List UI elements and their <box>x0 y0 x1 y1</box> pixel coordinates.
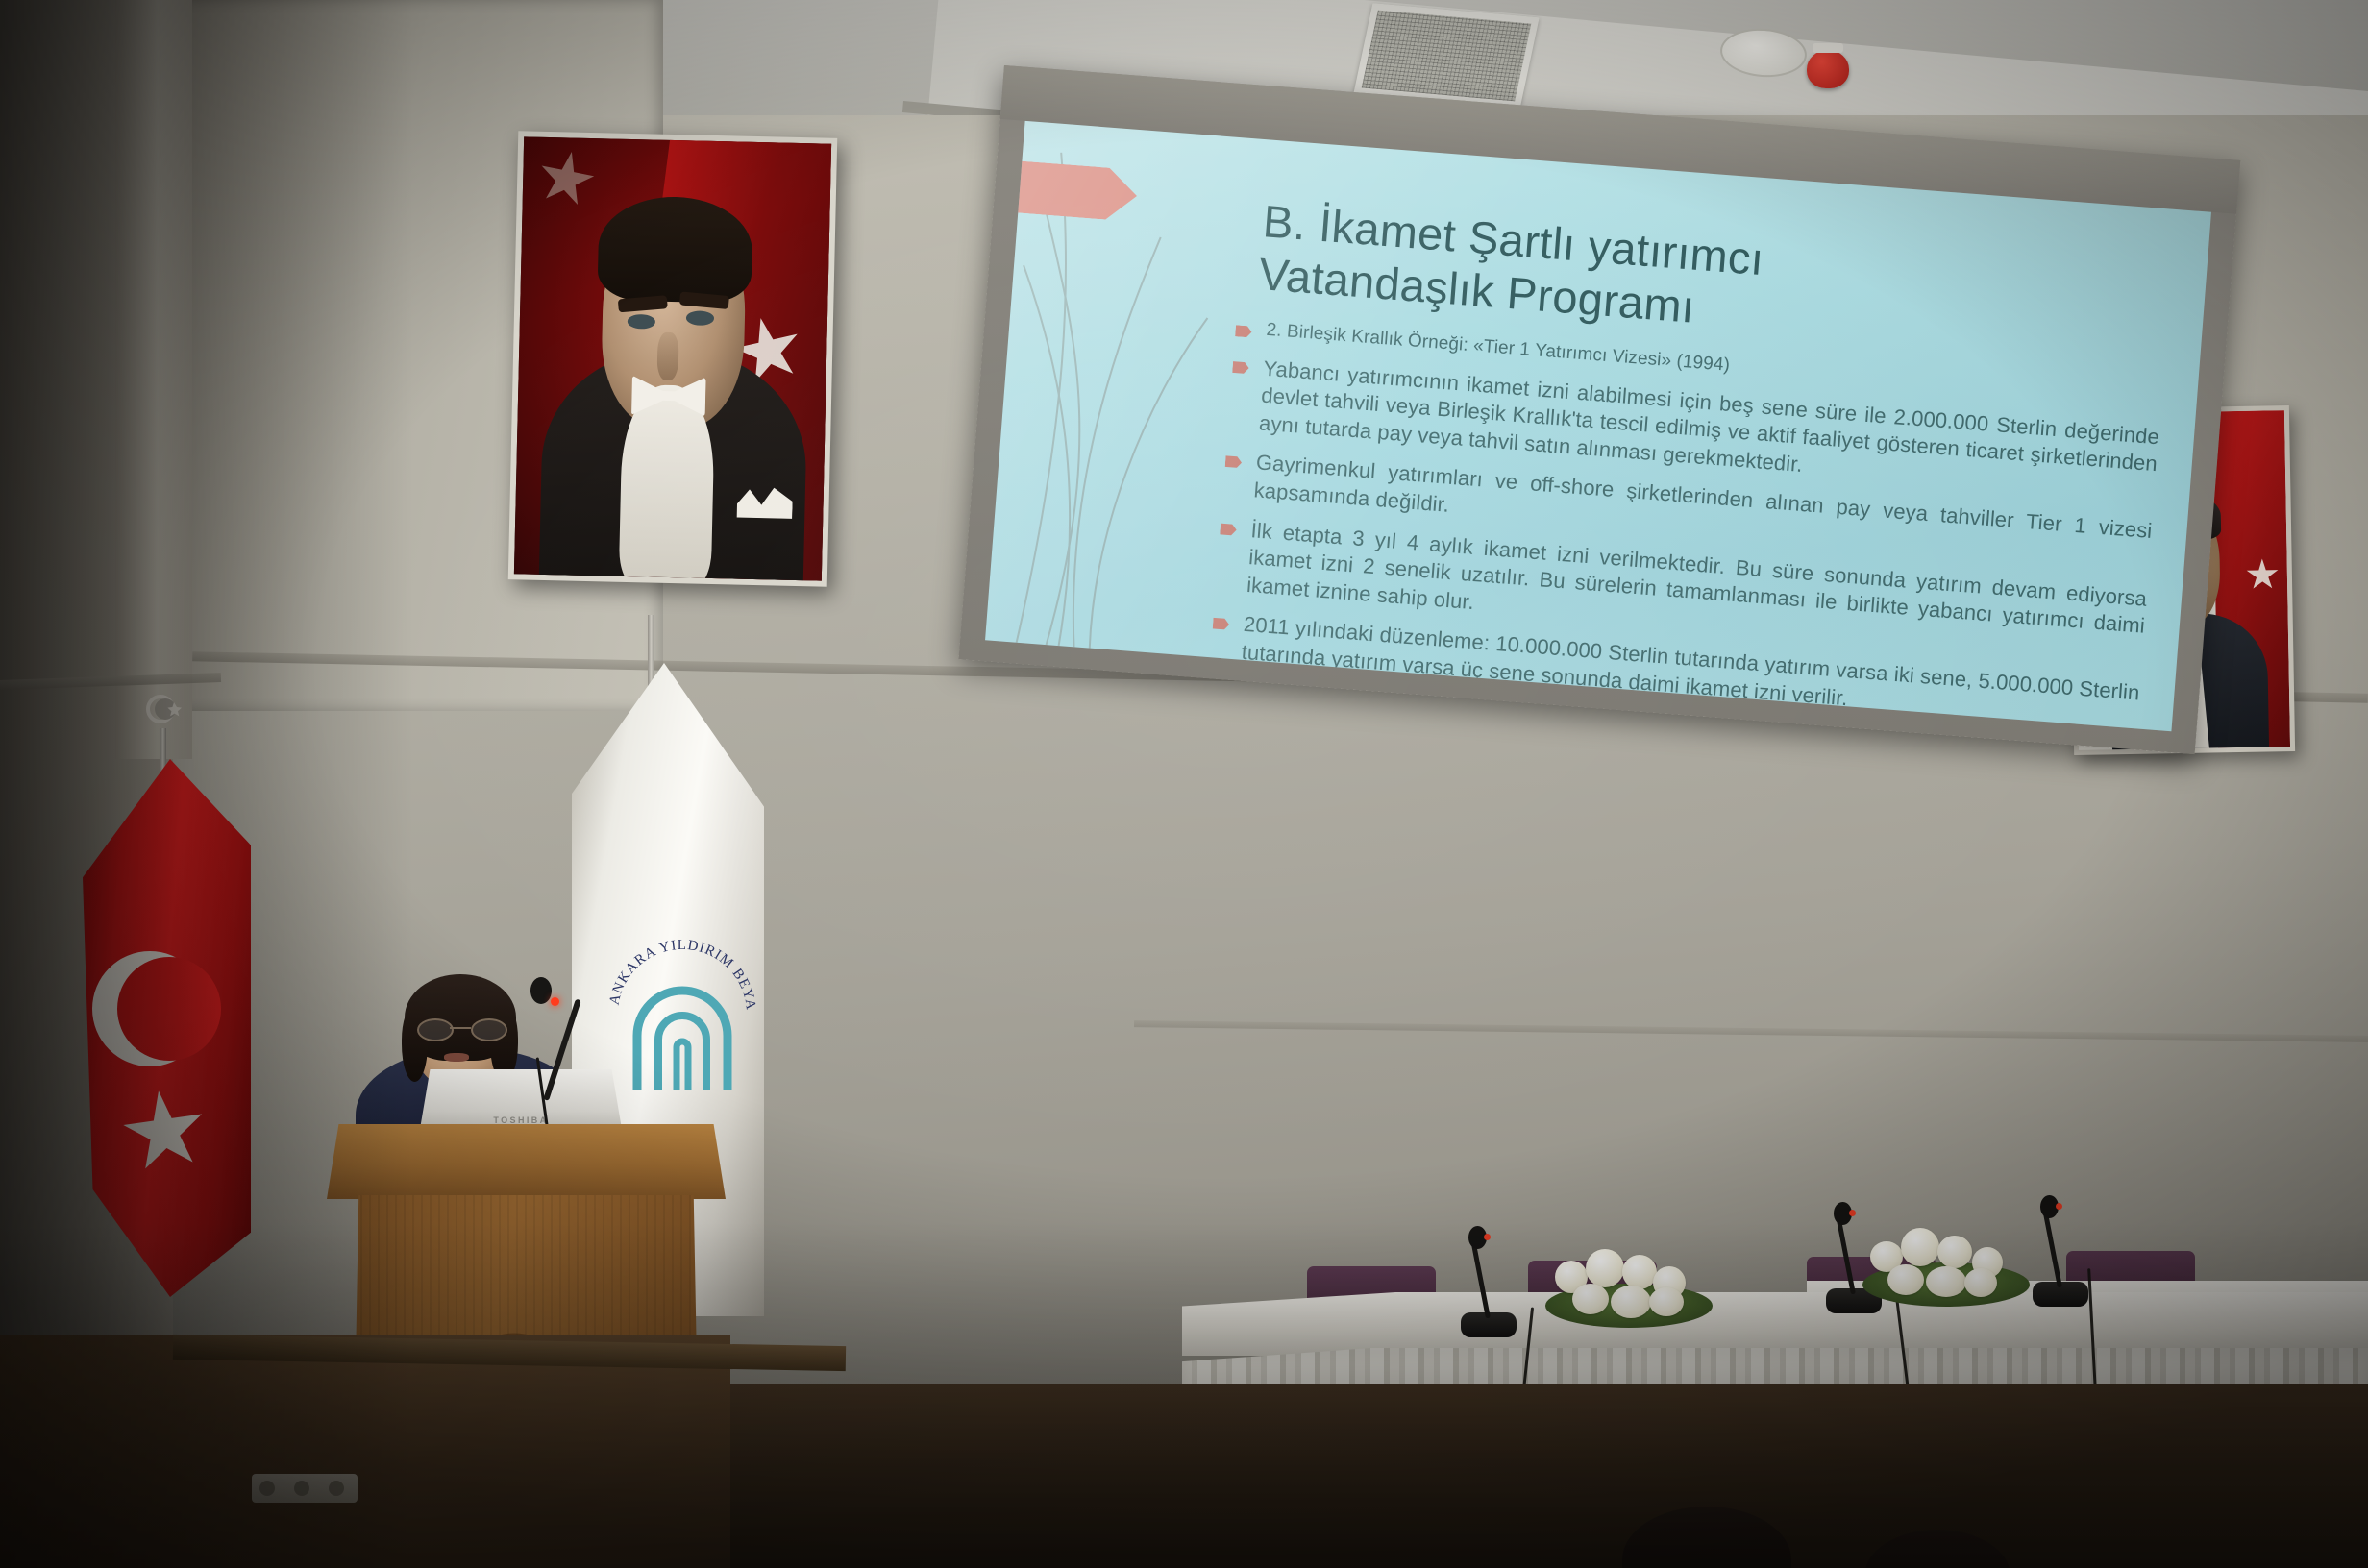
presentation-slide: B. İkamet Şartlı yatırımcı Vatandaşlık P… <box>985 121 2211 731</box>
smoke-detector-icon <box>1807 50 1849 88</box>
podium-microphone-icon <box>530 977 552 1004</box>
wall-outlet-icon <box>252 1474 358 1503</box>
flower-bouquet <box>1855 1220 2037 1305</box>
crescent-star-finial-icon <box>140 688 185 732</box>
conference-hall-photo: B. İkamet Şartlı yatırımcı Vatandaşlık P… <box>0 0 2368 1568</box>
bullet-marker-icon <box>1220 523 1237 535</box>
laptop-computer: TOSHIBA <box>420 1069 622 1129</box>
wall-pillar <box>115 0 192 759</box>
bullet-marker-icon <box>1235 325 1252 337</box>
flower-bouquet <box>1538 1241 1720 1326</box>
eyeglasses-icon <box>417 1018 506 1038</box>
microphone-led-indicator <box>551 997 559 1006</box>
stage-floor <box>0 1335 730 1568</box>
crescent-icon <box>92 951 208 1066</box>
flag-star-icon <box>533 146 599 211</box>
bullet-marker-icon <box>1213 618 1230 630</box>
bullet-marker-icon <box>1232 361 1249 374</box>
ataturk-portrait <box>508 131 838 586</box>
bullet-marker-icon <box>1225 455 1243 468</box>
ceiling-vent-icon <box>1353 3 1539 109</box>
projection-screen: B. İkamet Şartlı yatırımcı Vatandaşlık P… <box>958 65 2240 754</box>
